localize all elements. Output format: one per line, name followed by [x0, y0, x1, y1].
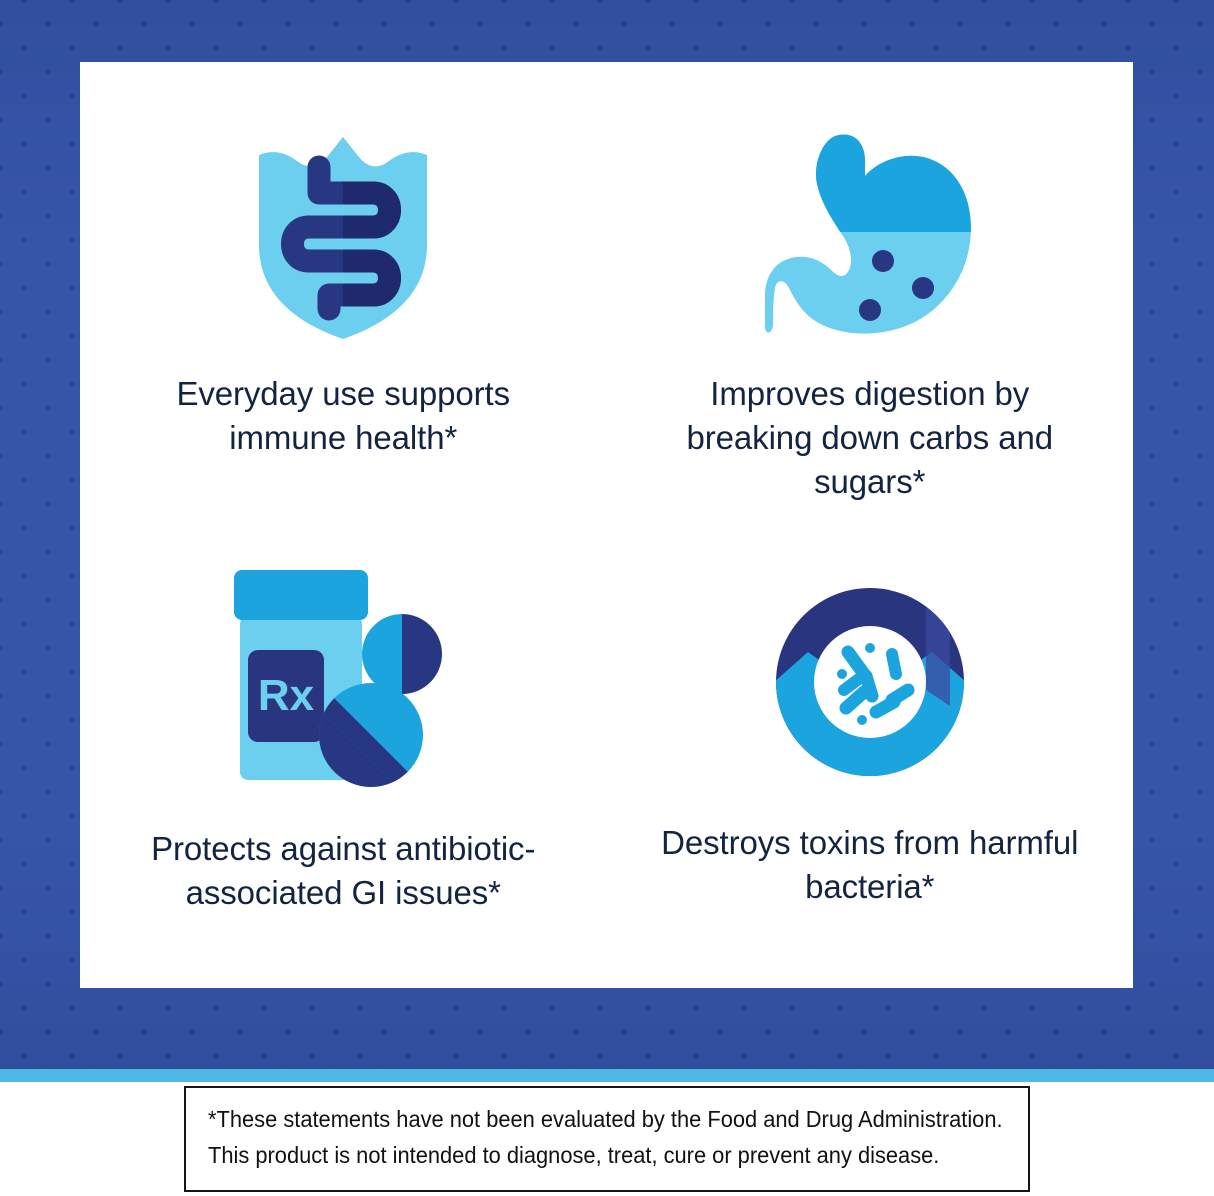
rx-pill-bottle-icon: Rx: [228, 559, 458, 799]
rx-label-text: Rx: [258, 671, 315, 720]
disclaimer-box: *These statements have not been evaluate…: [184, 1086, 1030, 1191]
bacteria-dot: [857, 715, 867, 725]
stomach-icon: [765, 124, 975, 344]
stomach-dot: [872, 250, 894, 272]
benefit-caption: Protects against antibiotic-associated G…: [133, 827, 553, 915]
stomach-dot: [912, 277, 934, 299]
benefit-item-digestion: Improves digestion by breaking down carb…: [607, 62, 1134, 525]
disclaimer-area: *These statements have not been evaluate…: [0, 1082, 1214, 1196]
bacteria-dot: [865, 643, 875, 653]
disclaimer-line-1: *These statements have not been evaluate…: [208, 1102, 954, 1138]
large-pill: [319, 683, 423, 787]
stomach-dot: [859, 299, 881, 321]
benefit-caption: Destroys toxins from harmful bacteria*: [660, 821, 1080, 909]
benefits-grid: Everyday use supports immune health*: [80, 62, 1133, 988]
small-pill: [362, 614, 442, 694]
benefit-item-immune-health: Everyday use supports immune health*: [80, 62, 607, 525]
petri-dish-svg: [774, 586, 966, 778]
rx-bottle-svg: Rx: [228, 566, 458, 792]
benefit-item-antibiotic-protection: Rx: [80, 525, 607, 988]
benefit-caption: Everyday use supports immune health*: [133, 372, 553, 460]
disclaimer-line-2: This product is not intended to diagnose…: [208, 1138, 954, 1174]
cyan-divider-strip: [0, 1069, 1214, 1082]
benefit-item-toxin-destruction: Destroys toxins from harmful bacteria*: [607, 525, 1134, 988]
petri-dish-bacteria-icon: [774, 577, 966, 787]
stomach-svg: [765, 128, 975, 340]
shield-intestine-svg: [253, 127, 433, 342]
bottle-cap: [234, 570, 368, 620]
benefit-caption: Improves digestion by breaking down carb…: [660, 372, 1080, 504]
benefits-card: Everyday use supports immune health*: [80, 62, 1133, 988]
shield-intestine-icon: [253, 124, 433, 344]
bacteria-dot: [837, 669, 847, 679]
